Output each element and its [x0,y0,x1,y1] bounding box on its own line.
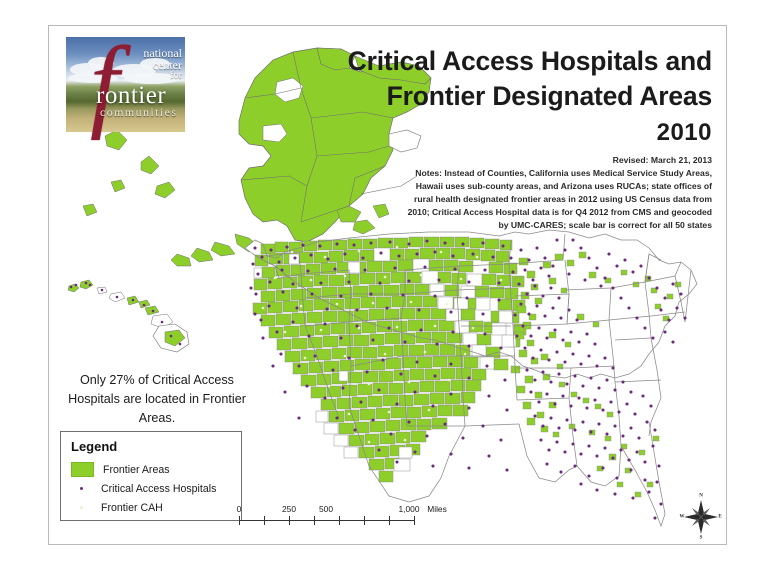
green-square-icon [71,462,94,477]
scale-label-0: 0 [237,504,242,514]
notes-body: Notes: Instead of Counties, California u… [400,167,712,232]
map-region-hawaii [68,280,189,352]
page-title-line-1: Critical Access Hospitals and [312,44,712,79]
scale-label-250: 250 [282,504,296,514]
organization-logo: f national center for rontier communitie… [66,37,185,132]
scale-tick [239,516,240,525]
scale-bar: 0 250 500 1,000 Miles [239,504,439,538]
scale-label-unit: Miles [427,504,447,514]
pale-dot-icon [71,506,92,509]
legend-label-frontier-areas: Frontier Areas [103,464,170,476]
legend: Legend Frontier Areas Critical Access Ho… [60,431,242,521]
legend-label-frontier-cah: Frontier CAH [101,502,163,514]
scale-label-1000: 1,000 [399,504,420,514]
scale-bar-labels: 0 250 500 1,000 Miles [239,504,439,516]
poster-notes: Revised: March 21, 2013 Notes: Instead o… [400,154,712,232]
legend-title: Legend [71,439,241,454]
stat-callout: Only 27% of Critical Access Hospitals ar… [57,371,257,428]
legend-label-critical-access-hospitals: Critical Access Hospitals [101,483,216,495]
compass-star-icon [679,494,723,540]
compass-label-south: S [700,536,703,541]
scale-tick [389,516,390,525]
map-poster: f national center for rontier communitie… [48,25,727,545]
logo-line-for: for [110,71,182,81]
compass-rose: N E S W [679,494,723,540]
page-title-year: 2010 [312,119,712,147]
legend-item-frontier-cah[interactable]: Frontier CAH [71,498,241,517]
scale-tick [264,516,265,525]
compass-label-north: N [699,494,703,499]
scale-label-500: 500 [319,504,333,514]
scale-bar-line [239,520,414,521]
revised-date: Revised: March 21, 2013 [400,154,712,167]
logo-line-communities: communities [100,105,177,120]
scale-tick [339,516,340,525]
map-region-contiguous-us [245,230,697,526]
dark-dot-icon [71,487,92,490]
page-title-line-2: Frontier Designated Areas [312,79,712,114]
logo-wordmark: national center for [110,47,182,82]
poster-title-block: Critical Access Hospitals and Frontier D… [312,44,712,147]
compass-label-east: E [718,515,721,520]
scale-tick [364,516,365,525]
scale-tick [414,516,415,525]
legend-item-critical-access-hospitals[interactable]: Critical Access Hospitals [71,479,241,498]
compass-label-west: W [680,515,685,520]
legend-item-frontier-areas[interactable]: Frontier Areas [71,460,241,479]
scale-tick [314,516,315,525]
scale-tick [289,516,290,525]
